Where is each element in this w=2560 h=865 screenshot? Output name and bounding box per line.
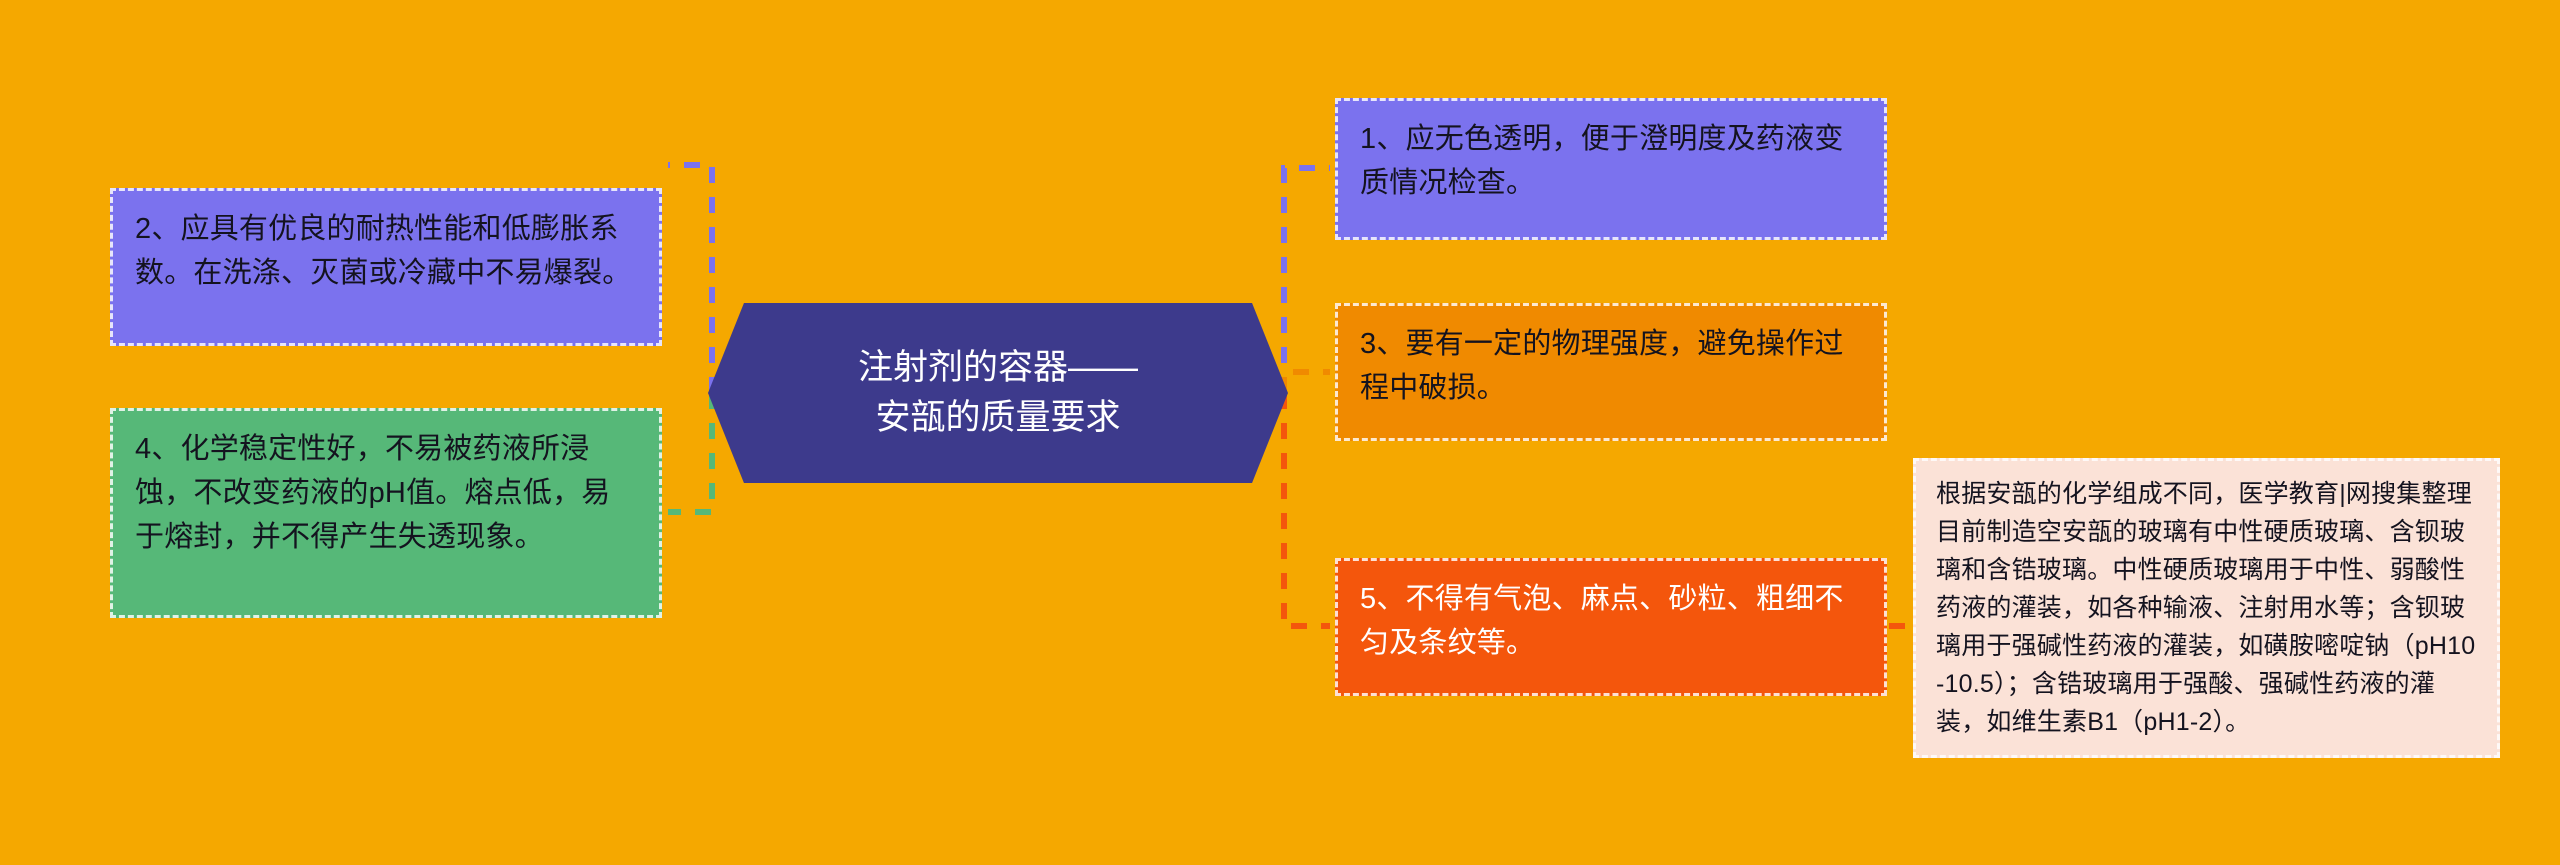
- branch-node-3-label: 3、要有一定的物理强度，避免操作过程中破损。: [1360, 322, 1864, 410]
- connector-branch-1: [1284, 168, 1330, 393]
- connector-branch-3: [1284, 372, 1330, 393]
- detail-note-node[interactable]: 根据安瓿的化学组成不同，医学教育|网搜集整理目前制造空安瓿的玻璃有中性硬质玻璃、…: [1913, 458, 2500, 758]
- branch-node-2[interactable]: 2、应具有优良的耐热性能和低膨胀系数。在洗涤、灭菌或冷藏中不易爆裂。: [110, 188, 662, 346]
- connector-branch-2: [668, 165, 712, 393]
- connector-branch-5: [1284, 393, 1330, 626]
- central-node-label: 注射剂的容器——安瓿的质量要求: [764, 343, 1232, 442]
- mindmap-canvas: 2、应具有优良的耐热性能和低膨胀系数。在洗涤、灭菌或冷藏中不易爆裂。 4、化学稳…: [0, 0, 2560, 865]
- branch-node-3[interactable]: 3、要有一定的物理强度，避免操作过程中破损。: [1335, 303, 1887, 441]
- branch-node-4-label: 4、化学稳定性好，不易被药液所浸蚀，不改变药液的pH值。熔点低，易于熔封，并不得…: [135, 427, 639, 559]
- detail-note-label: 根据安瓿的化学组成不同，医学教育|网搜集整理目前制造空安瓿的玻璃有中性硬质玻璃、…: [1936, 475, 2479, 741]
- branch-node-5[interactable]: 5、不得有气泡、麻点、砂粒、粗细不匀及条纹等。: [1335, 558, 1887, 696]
- connector-branch-4: [668, 393, 712, 512]
- branch-node-2-label: 2、应具有优良的耐热性能和低膨胀系数。在洗涤、灭菌或冷藏中不易爆裂。: [135, 207, 639, 295]
- branch-node-5-label: 5、不得有气泡、麻点、砂粒、粗细不匀及条纹等。: [1360, 577, 1864, 665]
- branch-node-1[interactable]: 1、应无色透明，便于澄明度及药液变质情况检查。: [1335, 98, 1887, 240]
- branch-node-4[interactable]: 4、化学稳定性好，不易被药液所浸蚀，不改变药液的pH值。熔点低，易于熔封，并不得…: [110, 408, 662, 618]
- central-node[interactable]: 注射剂的容器——安瓿的质量要求: [708, 303, 1288, 483]
- branch-node-1-label: 1、应无色透明，便于澄明度及药液变质情况检查。: [1360, 117, 1864, 205]
